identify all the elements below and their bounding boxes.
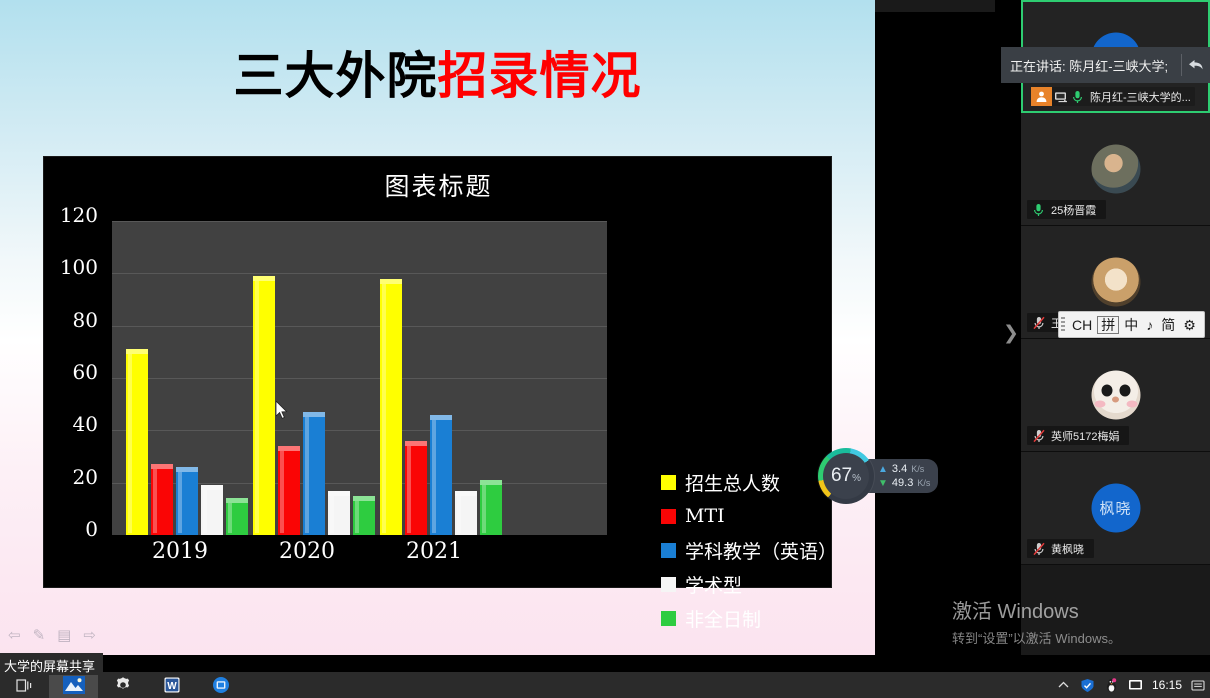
- screen: 三大外院招录情况 图表标题 020406080100120 2019202020…: [0, 0, 1210, 698]
- ime-drag-handle[interactable]: [1061, 317, 1065, 333]
- forward-arrow-icon[interactable]: ⇨: [83, 626, 96, 644]
- participant-tile[interactable]: 枫晓黄枫晓: [1021, 452, 1210, 565]
- cpu-usage-ring: 67%: [818, 448, 874, 504]
- slide-title-black: 三大外院: [234, 46, 438, 105]
- bar-groups: [112, 221, 607, 535]
- bar[interactable]: [405, 441, 427, 535]
- usage-percent-value: 67: [831, 465, 852, 486]
- chart-object[interactable]: 图表标题 020406080100120 201920202021 招生总人数M…: [43, 156, 832, 588]
- slide-title-red: 招录情况: [438, 46, 642, 105]
- participant-tile[interactable]: 25杨晋霞: [1021, 113, 1210, 226]
- bar[interactable]: [455, 491, 477, 535]
- legend-swatch: [661, 611, 676, 626]
- windows-taskbar[interactable]: W 16:15: [0, 672, 1210, 698]
- taskbar-apps[interactable]: W: [0, 672, 245, 698]
- upload-rate-value: 3.4: [892, 463, 907, 475]
- upload-rate-unit: K/s: [911, 464, 924, 474]
- background-fill: [875, 0, 1021, 655]
- legend-label: 招生总人数: [685, 469, 780, 496]
- reply-arrow-icon[interactable]: [1182, 58, 1210, 72]
- pen-icon[interactable]: ✎: [33, 626, 46, 644]
- penguin-app-icon[interactable]: [1104, 678, 1119, 693]
- menu-icon[interactable]: ▤: [57, 626, 71, 644]
- participant-name: 陈月红-三峡大学的...: [1086, 89, 1195, 105]
- y-axis-tick: 120: [60, 203, 98, 227]
- bar[interactable]: [176, 467, 198, 535]
- plot-area-wrap: [112, 221, 607, 535]
- slide-title: 三大外院招录情况: [0, 48, 875, 104]
- taskbar-clock[interactable]: 16:15: [1152, 679, 1182, 692]
- legend-label: 学术型: [685, 571, 742, 598]
- avatar: [1091, 258, 1140, 307]
- ppt-mini-toolbar[interactable]: ⇦ ✎ ▤ ⇨: [8, 623, 96, 647]
- bar[interactable]: [226, 498, 248, 535]
- x-axis-label: 2019: [152, 539, 208, 564]
- y-axis-tick: 0: [85, 517, 98, 541]
- mic-muted-icon[interactable]: [1030, 426, 1047, 445]
- y-axis-tick: 80: [73, 308, 98, 332]
- participant-namebar: 英师5172梅娟: [1027, 426, 1129, 445]
- legend-row[interactable]: 招生总人数: [661, 465, 831, 499]
- participant-tile[interactable]: 英师5172梅娟: [1021, 339, 1210, 452]
- screen-share-icon: [1052, 87, 1069, 106]
- bar[interactable]: [430, 415, 452, 535]
- mic-muted-icon[interactable]: [1030, 313, 1047, 332]
- legend-row[interactable]: 非全日制: [661, 601, 831, 635]
- ime-item-language[interactable]: CH: [1069, 318, 1095, 332]
- y-axis-tick: 20: [73, 465, 98, 489]
- x-axis-labels: 201920202021: [112, 539, 607, 575]
- host-badge-icon: [1031, 87, 1052, 106]
- bar-group: [253, 221, 388, 535]
- x-axis-label: 2021: [406, 539, 462, 564]
- back-arrow-icon[interactable]: ⇦: [8, 626, 21, 644]
- usage-percent: 67%: [831, 465, 861, 487]
- chart-legend: 招生总人数MTI学科教学（英语）学术型非全日制: [661, 465, 831, 635]
- speaking-banner[interactable]: 正在讲话: 陈月红-三峡大学;: [1001, 47, 1210, 83]
- x-axis-label: 2020: [279, 539, 335, 564]
- screen-share-label-text: 大学的屏幕共享: [4, 656, 95, 675]
- usage-percent-unit: %: [852, 473, 861, 484]
- legend-swatch: [661, 509, 676, 524]
- svg-text:W: W: [167, 681, 177, 692]
- task-view-icon[interactable]: [0, 672, 49, 698]
- bar[interactable]: [480, 480, 502, 535]
- bar[interactable]: [126, 349, 148, 535]
- download-arrow-icon: ▼: [878, 478, 888, 489]
- download-rate-value: 49.3: [892, 477, 913, 489]
- participant-namebar: 25杨晋霞: [1027, 200, 1106, 219]
- avatar: [1091, 371, 1140, 420]
- bar[interactable]: [303, 412, 325, 535]
- download-rate-unit: K/s: [917, 478, 930, 488]
- participant-namebar: 陈月红-三峡大学的...: [1031, 87, 1195, 106]
- legend-label: 非全日制: [685, 605, 761, 632]
- legend-swatch: [661, 543, 676, 558]
- ime-language-bar[interactable]: CH拼中♪简⚙: [1058, 311, 1205, 338]
- display-icon[interactable]: [1128, 678, 1143, 693]
- bar[interactable]: [151, 464, 173, 535]
- photos-app-icon[interactable]: [49, 672, 98, 698]
- participant-namebar: 黄枫晓: [1027, 539, 1094, 558]
- y-axis: 020406080100120: [44, 215, 106, 541]
- ime-item-tone[interactable]: ♪: [1143, 318, 1156, 332]
- security-shield-icon[interactable]: [1080, 678, 1095, 693]
- network-speed-widget[interactable]: 67% ▲ 3.4 K/s ▼ 49.3 K/s: [818, 448, 938, 504]
- mic-icon[interactable]: [1069, 87, 1086, 106]
- legend-label: 学科教学（英语）: [685, 537, 837, 564]
- word-app-icon[interactable]: W: [147, 672, 196, 698]
- shared-screen-slide[interactable]: 三大外院招录情况 图表标题 020406080100120 2019202020…: [0, 0, 875, 655]
- bar[interactable]: [328, 491, 350, 535]
- mouse-cursor: [276, 401, 288, 420]
- y-axis-tick: 60: [73, 360, 98, 384]
- bar[interactable]: [353, 496, 375, 535]
- upload-rate-row: ▲ 3.4 K/s: [878, 463, 930, 475]
- avatar: 枫晓: [1091, 484, 1140, 533]
- participant-name: 25杨晋霞: [1047, 202, 1100, 218]
- participant-name: 英师5172梅娟: [1047, 428, 1123, 444]
- meeting-app-icon[interactable]: [196, 672, 245, 698]
- legend-row[interactable]: 学科教学（英语）: [661, 533, 831, 567]
- background-fill-top: [875, 0, 995, 12]
- bar-group: [380, 221, 515, 535]
- bar[interactable]: [380, 279, 402, 535]
- ime-item-simplified[interactable]: 简: [1158, 318, 1178, 332]
- legend-label: MTI: [685, 505, 725, 527]
- legend-swatch: [661, 475, 676, 490]
- legend-swatch: [661, 577, 676, 592]
- ime-item-chinese[interactable]: 中: [1121, 318, 1141, 332]
- mic-icon[interactable]: [1030, 200, 1047, 219]
- bar[interactable]: [201, 485, 223, 535]
- ime-item-settings[interactable]: ⚙: [1180, 318, 1199, 332]
- legend-row[interactable]: 学术型: [661, 567, 831, 601]
- avatar: [1091, 145, 1140, 194]
- system-tray[interactable]: 16:15: [1056, 672, 1210, 698]
- speaking-banner-text: 正在讲话: 陈月红-三峡大学;: [1001, 56, 1181, 75]
- download-rate-row: ▼ 49.3 K/s: [878, 477, 930, 489]
- bar[interactable]: [253, 276, 275, 535]
- chart-title: 图表标题: [44, 167, 833, 203]
- ime-item-pinyin[interactable]: 拼: [1097, 316, 1119, 334]
- mic-muted-icon[interactable]: [1030, 539, 1047, 558]
- participant-name: 黄枫晓: [1047, 541, 1088, 557]
- upload-arrow-icon: ▲: [878, 464, 888, 475]
- settings-gear-icon[interactable]: [98, 672, 147, 698]
- y-axis-tick: 100: [60, 255, 98, 279]
- y-axis-tick: 40: [73, 412, 98, 436]
- desktop-strip: [0, 655, 1210, 672]
- legend-row[interactable]: MTI: [661, 499, 831, 533]
- show-hidden-icons-chevron[interactable]: [1056, 678, 1071, 693]
- bar-group: [126, 221, 261, 535]
- screen-share-label: 大学的屏幕共享: [0, 653, 103, 675]
- notification-icon[interactable]: [1191, 678, 1206, 693]
- bar[interactable]: [278, 446, 300, 535]
- chevron-right-icon[interactable]: ❯: [1003, 322, 1019, 345]
